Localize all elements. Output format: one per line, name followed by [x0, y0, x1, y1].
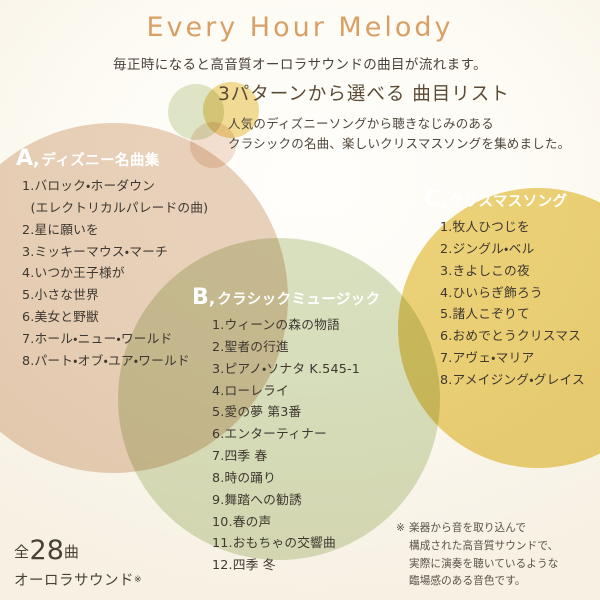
- group-classic-comma: ,: [209, 289, 215, 309]
- group-disney-header: A , ディズニー名曲集: [16, 148, 208, 170]
- group-classic: B , クラシックミュージック 1.ウィーンの森の物語2.聖者の行進3.ピアノ・…: [192, 287, 381, 576]
- list-item: 3.きよしこの夜: [440, 260, 585, 282]
- list-item: 11.おもちゃの交響曲: [212, 532, 381, 554]
- list-item: 8.アメイジング・グレイス: [440, 369, 585, 391]
- page-subtitle: 毎正時になると高音質オーロラサウンドの曲目が流れます。: [0, 53, 600, 73]
- list-item: 6.美女と野獣: [22, 306, 208, 328]
- list-item: 12.四季 冬: [212, 554, 381, 576]
- total-sound-label: オーロラサウンド※: [14, 569, 142, 590]
- list-item: 6.エンターティナー: [212, 423, 381, 445]
- footnote-text: 楽器から音を取り込んで 構成された高音質サウンドで、 実際に演奏を聴いているよう…: [396, 520, 558, 591]
- list-item: 7.ホール・ニュー・ワールド: [22, 328, 208, 350]
- list-item: 3.ミッキーマウス・マーチ: [22, 241, 208, 263]
- group-christmas-header: C , クリスマスソング: [424, 189, 585, 211]
- list-item: 7.アヴェ・マリア: [440, 347, 585, 369]
- list-item: 5.愛の夢 第3番: [212, 401, 381, 423]
- lead-block: 3パターンから選べる 曲目リスト 人気のディズニーソングから聴きなじみのある ク…: [218, 80, 570, 155]
- list-item: 1.ウィーンの森の物語: [212, 314, 381, 336]
- group-classic-name: クラシックミュージック: [217, 288, 380, 309]
- page-title: Every Hour Melody: [0, 0, 600, 43]
- total-prefix: 全: [14, 543, 30, 561]
- list-item: 5.小さな世界: [22, 284, 208, 306]
- lead-description: 人気のディズニーソングから聴きなじみのある クラシックの名曲、楽しいクリスマスソ…: [228, 114, 570, 155]
- group-classic-song-list: 1.ウィーンの森の物語2.聖者の行進3.ピアノ・ソナタ K.545-14.ローレ…: [212, 314, 381, 576]
- group-christmas: C , クリスマスソング 1.牧人ひつじを2.ジングル・ベル3.きよしこの夜4.…: [424, 189, 585, 391]
- total-songs-line: 全28曲: [14, 536, 142, 566]
- list-item: 3.ピアノ・ソナタ K.545-1: [212, 358, 381, 380]
- group-disney-letter: A: [16, 148, 33, 170]
- group-disney-name: ディズニー名曲集: [42, 149, 160, 170]
- list-item: 4.ローレライ: [212, 380, 381, 402]
- lead-heading: 3パターンから選べる 曲目リスト: [218, 80, 570, 106]
- total-sound-text: オーロラサウンド: [14, 573, 134, 589]
- footnote-mark-icon: ※: [396, 520, 405, 538]
- poster-canvas: Every Hour Melody 毎正時になると高音質オーロラサウンドの曲目が…: [0, 0, 600, 600]
- list-item: 2.聖者の行進: [212, 336, 381, 358]
- group-classic-letter: B: [192, 287, 209, 309]
- list-item: 1.バロック・ホーダウン: [22, 175, 208, 197]
- list-item: 1.牧人ひつじを: [440, 216, 585, 238]
- list-item: 6.おめでとうクリスマス: [440, 325, 585, 347]
- total-songs-block: 全28曲 オーロラサウンド※: [14, 536, 142, 590]
- group-classic-header: B , クラシックミュージック: [192, 287, 381, 309]
- list-item: 10.春の声: [212, 511, 381, 533]
- group-disney: A , ディズニー名曲集 1.バロック・ホーダウン (エレクトリカルパレードの曲…: [16, 148, 208, 372]
- list-item: 2.星に願いを: [22, 219, 208, 241]
- total-count: 28: [30, 535, 64, 566]
- group-christmas-comma: ,: [440, 191, 446, 211]
- poster-header: Every Hour Melody 毎正時になると高音質オーロラサウンドの曲目が…: [0, 0, 600, 73]
- list-item: 2.ジングル・ベル: [440, 238, 585, 260]
- group-christmas-name: クリスマスソング: [449, 190, 568, 211]
- list-item: 5.諸人こぞりて: [440, 303, 585, 325]
- reference-mark-icon: ※: [134, 575, 142, 585]
- list-item: 7.四季 春: [212, 445, 381, 467]
- list-item: 8.時の踊り: [212, 467, 381, 489]
- group-christmas-letter: C: [424, 189, 440, 211]
- group-disney-song-list: 1.バロック・ホーダウン (エレクトリカルパレードの曲)2.星に願いを3.ミッキ…: [22, 175, 208, 372]
- list-item: (エレクトリカルパレードの曲): [22, 197, 208, 219]
- footnote-block: ※ 楽器から音を取り込んで 構成された高音質サウンドで、 実際に演奏を聴いている…: [396, 520, 558, 591]
- list-item: 9.舞踏への勧誘: [212, 489, 381, 511]
- list-item: 4.ひいらぎ飾ろう: [440, 282, 585, 304]
- list-item: 4.いつか王子様が: [22, 262, 208, 284]
- total-suffix: 曲: [64, 543, 80, 561]
- group-disney-comma: ,: [33, 150, 39, 170]
- list-item: 8.パート・オブ・ユア・ワールド: [22, 350, 208, 372]
- group-christmas-song-list: 1.牧人ひつじを2.ジングル・ベル3.きよしこの夜4.ひいらぎ飾ろう5.諸人こぞ…: [440, 216, 585, 391]
